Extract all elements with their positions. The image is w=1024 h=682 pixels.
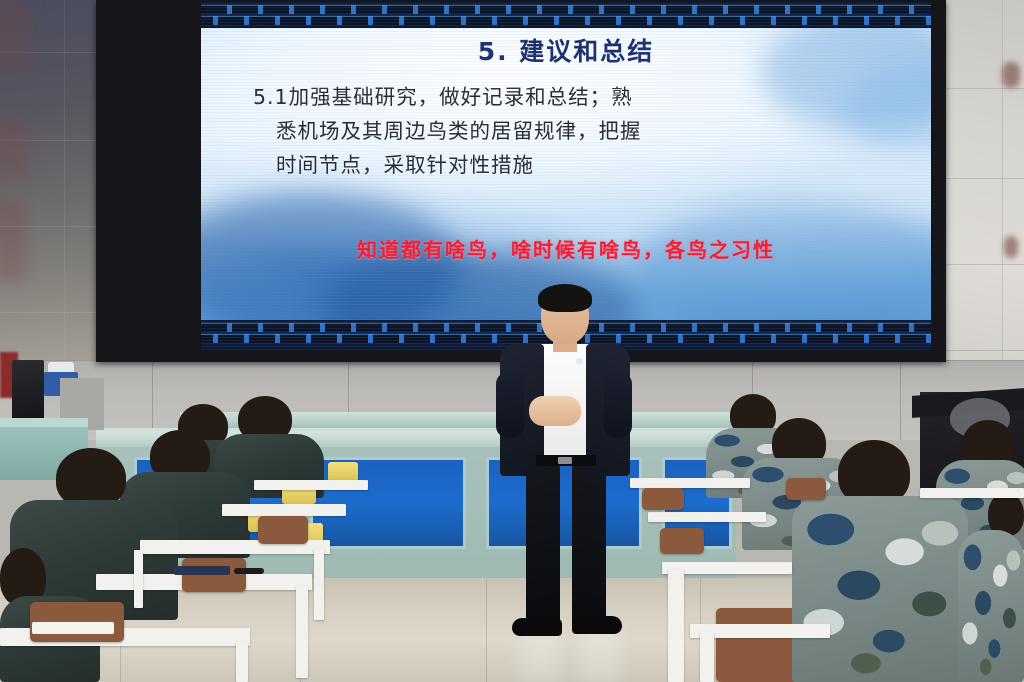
desk <box>254 480 368 490</box>
chair <box>642 488 684 510</box>
desk <box>630 478 750 488</box>
desk-leg <box>296 586 308 678</box>
chair <box>660 528 704 554</box>
presenter-belt <box>536 455 596 466</box>
presenter-shoe-left <box>512 618 562 636</box>
desk <box>668 570 684 682</box>
yellow-box <box>328 462 358 482</box>
chair <box>786 478 826 500</box>
slide-body-line-2: 悉机场及其周边鸟类的居留规律，把握 <box>231 114 911 148</box>
monitor <box>12 360 44 422</box>
slide-body-line-1: 5.1加强基础研究，做好记录和总结；熟 <box>231 80 911 114</box>
pen <box>234 568 264 574</box>
desk <box>920 488 1024 498</box>
right-wall <box>944 0 1024 378</box>
desk <box>222 504 346 516</box>
projector-screen-bezel: 5. 建议和总结 5.1加强基础研究，做好记录和总结；熟 悉机场及其周边鸟类的居… <box>96 0 946 362</box>
desk-leg <box>236 642 248 682</box>
chair <box>182 558 246 592</box>
slide-highlight-text: 知道都有啥鸟，啥时候有啥鸟，各鸟之习性 <box>201 234 931 263</box>
slide-title: 5. 建议和总结 <box>201 32 931 68</box>
presenter-shoe-right <box>572 616 622 634</box>
paper <box>32 622 114 634</box>
slide-top-border-band <box>201 2 931 28</box>
chair <box>258 516 308 544</box>
desk-leg <box>314 548 324 620</box>
slide-body-line-3: 时间节点，采取针对性措施 <box>231 148 911 182</box>
notebook <box>174 566 230 575</box>
desk-leg <box>134 550 143 608</box>
slide-body-text: 5.1加强基础研究，做好记录和总结；熟 悉机场及其周边鸟类的居留规律，把握 时间… <box>231 80 911 182</box>
desk <box>700 632 714 682</box>
left-wall <box>0 0 100 372</box>
lecture-room-photo: 5. 建议和总结 5.1加强基础研究，做好记录和总结；熟 悉机场及其周边鸟类的居… <box>0 0 1024 682</box>
presenter-hands <box>529 396 581 426</box>
desk <box>648 512 766 522</box>
lapel-badge <box>576 358 583 365</box>
